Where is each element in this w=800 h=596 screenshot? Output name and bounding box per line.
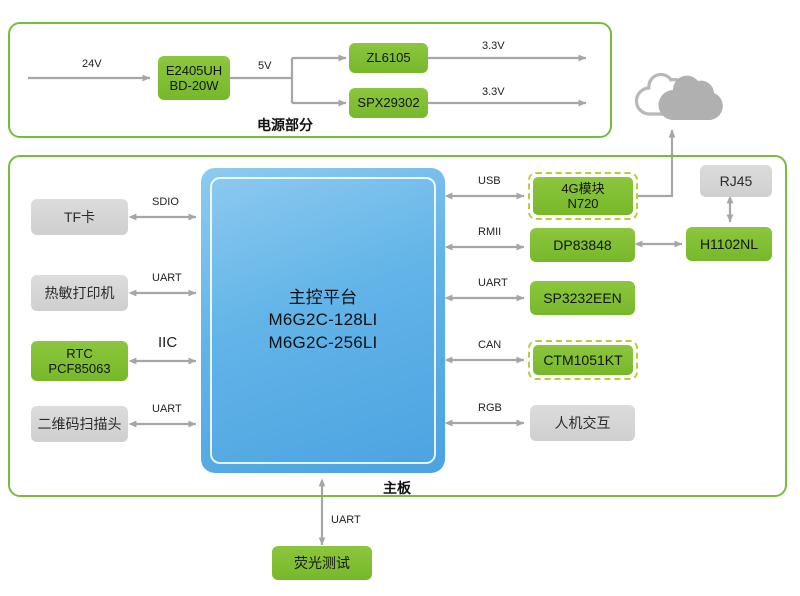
bus-label-uart-printer: UART <box>152 272 182 284</box>
cloud-icon <box>630 62 726 124</box>
caption-power-section: 电源部分 <box>257 115 313 135</box>
caption-mainboard: 主板 <box>383 478 411 498</box>
bus-label-iic: IIC <box>158 334 177 351</box>
label-5v-rail: 5V <box>258 60 271 72</box>
box-rtc-pcf85063: RTC PCF85063 <box>31 341 128 381</box>
bus-label-usb: USB <box>478 175 501 187</box>
mcu-label: 主控平台 M6G2C-128LI M6G2C-256LI <box>269 287 378 354</box>
bus-label-can: CAN <box>478 339 501 351</box>
bus-label-uart-fluorescence: UART <box>331 514 361 526</box>
box-tf-card: TF卡 <box>31 199 128 235</box>
box-regulator-zl6105: ZL6105 <box>349 43 428 73</box>
box-hmi: 人机交互 <box>530 405 635 441</box>
box-thermal-printer: 热敏打印机 <box>31 275 128 311</box>
label-input-voltage: 24V <box>82 58 102 70</box>
box-h1102nl: H1102NL <box>686 227 772 261</box>
box-ctm1051kt-label: CTM1051KT <box>533 345 633 375</box>
label-spx29302-output: 3.3V <box>482 86 505 98</box>
block-diagram: 24V E2405UH BD-20W 5V ZL6105 3.3V SPX293… <box>0 0 800 596</box>
box-dp83848: DP83848 <box>530 228 635 262</box>
label-zl6105-output: 3.3V <box>482 40 505 52</box>
box-4g-module-label: 4G模块 N720 <box>533 177 633 215</box>
box-regulator-spx29302: SPX29302 <box>349 88 428 118</box>
bus-label-rgb: RGB <box>478 402 502 414</box>
box-dcdc-converter: E2405UH BD-20W <box>158 56 230 100</box>
box-rj45: RJ45 <box>700 165 772 197</box>
bus-label-rmii: RMII <box>478 226 501 238</box>
mcu-inner-border: 主控平台 M6G2C-128LI M6G2C-256LI <box>210 177 436 464</box>
box-fluorescence-test: 荧光测试 <box>272 546 372 580</box>
box-4g-module: 4G模块 N720 <box>528 172 638 220</box>
box-ctm1051kt: CTM1051KT <box>528 340 638 380</box>
box-sp3232een: SP3232EEN <box>530 281 635 315</box>
bus-label-uart-scanner: UART <box>152 403 182 415</box>
bus-label-uart-rs232: UART <box>478 277 508 289</box>
bus-label-sdio: SDIO <box>152 196 179 208</box>
box-qr-scanner: 二维码扫描头 <box>31 406 128 442</box>
mcu-block: 主控平台 M6G2C-128LI M6G2C-256LI <box>201 168 445 473</box>
